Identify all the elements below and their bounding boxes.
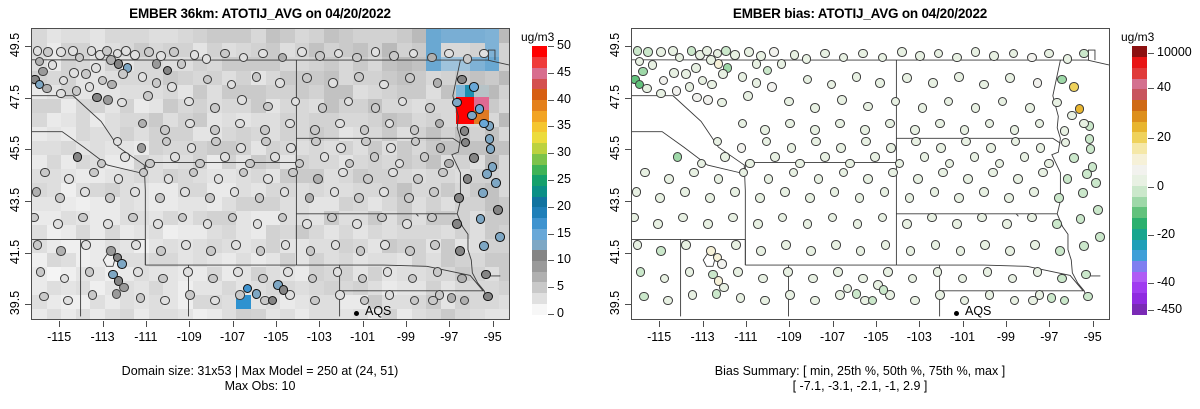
observation-site-marker [85,82,95,92]
observation-site-marker [1005,73,1015,83]
observation-site-marker [931,240,941,250]
observation-site-marker [117,98,127,108]
observation-site-marker [429,187,439,197]
observation-site-marker [170,152,180,162]
aqs-legend-label: AQS [965,304,991,318]
observation-site-marker [1013,174,1023,184]
observation-site-marker [430,240,440,250]
observation-site-marker [638,67,648,77]
observation-site-marker [1057,274,1067,284]
observation-site-marker [936,143,946,153]
observation-site-marker [888,168,898,178]
observation-site-marker [1027,53,1037,63]
observation-site-marker [379,187,389,197]
observation-site-marker [195,159,205,169]
x-axis-tick-label: -101 [340,330,386,344]
observation-site-marker [205,193,215,203]
bias-colorbar-units: ug/m3 [1121,30,1154,44]
observation-site-marker [831,240,841,250]
observation-site-marker [92,93,102,103]
observation-site-marker [1079,49,1089,59]
observation-site-marker [1081,270,1091,280]
observation-site-marker [963,174,973,184]
observation-site-marker [130,50,140,60]
observation-site-marker [986,143,996,153]
observation-site-marker [681,240,691,250]
observation-site-marker [737,143,747,153]
observation-site-marker [810,103,820,113]
observation-site-marker [180,187,190,197]
observation-site-marker [983,267,993,277]
x-axis-tick-label: -111 [723,330,769,344]
observation-site-marker [481,270,491,280]
colorbar-segment [532,175,547,186]
observation-site-marker [795,159,805,169]
colorbar-segment [532,89,547,100]
colorbar-segment [1132,260,1147,271]
x-axis-tick-label: -109 [766,330,812,344]
x-axis-tick [319,321,320,327]
colorbar-segment [532,282,547,293]
bias-caption-line-2: [ -7.1, -3.1, -2.1, -1, 2.9 ] [600,379,1120,394]
observation-site-marker [1052,98,1062,108]
observation-site-marker [389,51,399,61]
aqs-legend-dot [354,311,359,316]
observation-site-marker [130,187,140,197]
x-axis-tick [406,321,407,327]
observation-site-marker [263,174,273,184]
observation-site-marker [790,50,800,60]
observation-site-marker [279,285,289,295]
observation-site-marker [632,187,642,197]
observation-site-marker [860,125,870,135]
observation-site-marker [833,267,843,277]
colorbar-segment [532,196,547,207]
observation-site-marker [404,193,414,203]
colorbar-tick-label: 15 [557,226,571,240]
x-axis-tick-label: -97 [1026,330,1072,344]
observation-site-marker [190,50,200,60]
observation-site-marker [1052,219,1062,229]
observation-site-marker [152,59,162,69]
observation-site-marker [1082,169,1092,179]
observation-site-marker [181,240,191,250]
observation-site-marker [202,54,212,64]
observation-site-marker [703,219,713,229]
observation-site-marker [933,267,943,277]
observation-site-marker [245,159,255,169]
observation-site-marker [769,47,779,57]
x-axis-tick-label: -99 [383,330,429,344]
observation-site-marker [117,259,127,269]
x-axis-tick-label: -103 [296,330,342,344]
observation-site-marker [1004,193,1014,203]
observation-site-marker [852,289,862,299]
colorbar-segment [1132,57,1147,68]
colorbar-segment [532,78,547,89]
observation-site-marker [136,293,146,303]
observation-site-marker [39,292,49,302]
observation-site-marker [354,72,364,82]
observation-site-marker [1047,293,1057,303]
observation-site-marker [1025,103,1035,113]
observation-site-marker [72,86,82,96]
observation-site-marker [427,213,437,223]
observation-site-marker [780,187,790,197]
observation-site-marker [636,267,646,277]
observation-site-marker [664,174,674,184]
observation-site-marker [313,174,323,184]
colorbar-segment [1132,110,1147,121]
observation-site-marker [260,125,270,135]
colorbar-tick-label: -450 [1157,302,1182,316]
colorbar-tick [548,126,554,127]
observation-site-marker [427,53,437,63]
colorbar-segment [532,164,547,175]
observation-site-marker [758,274,768,284]
observation-site-marker [438,168,448,178]
y-axis-tick-label: 49.5 [608,22,622,68]
observation-site-marker [1054,193,1064,203]
colorbar-segment [532,142,547,153]
observation-site-marker [730,50,740,60]
observation-site-marker [783,267,793,277]
observation-site-marker [717,98,727,108]
x-axis-tick [876,321,877,327]
observation-site-marker [836,143,846,153]
observation-site-marker [252,289,262,299]
observation-site-marker [291,97,301,107]
y-axis-tick-label: 39.5 [8,280,22,326]
observation-site-marker [491,178,501,188]
observation-site-marker [1055,246,1065,256]
observation-site-marker [363,174,373,184]
observation-site-marker [330,187,340,197]
observation-site-marker [787,143,797,153]
observation-site-marker [858,49,868,59]
x-axis-tick [789,321,790,327]
observation-site-marker [78,213,88,223]
observation-site-marker [1033,267,1043,277]
observation-site-marker [433,78,443,88]
observation-site-marker [712,289,722,299]
observation-site-marker [360,125,370,135]
observation-site-marker [335,119,345,129]
observation-site-marker [673,152,683,162]
observation-site-marker [138,72,148,82]
observation-site-marker [80,187,90,197]
colorbar-segment [1132,218,1147,229]
observation-site-marker [915,51,925,61]
observation-site-marker [452,219,462,229]
observation-site-marker [1085,134,1095,144]
x-axis-tick [146,321,147,327]
observation-site-marker [685,82,695,92]
observation-site-marker [208,274,218,284]
observation-site-marker [656,246,666,256]
observation-site-marker [980,240,990,250]
observation-site-marker [479,241,489,251]
bias-caption-line-1: Bias Summary: [ min, 25th %, 50th %, 75t… [600,364,1120,379]
observation-site-marker [979,187,989,197]
observation-site-marker [902,73,912,83]
observation-site-marker [633,240,643,250]
observation-site-marker [81,69,91,79]
observation-site-marker [420,152,430,162]
observation-site-marker [352,219,362,229]
observation-site-marker [331,240,341,250]
colorbar-segment [532,239,547,250]
observation-site-marker [383,267,393,277]
colorbar-segment [1132,164,1147,175]
observation-site-marker [233,267,243,277]
observation-site-marker [43,47,53,57]
observation-site-marker [280,187,290,197]
colorbar-tick-label: 50 [557,38,571,52]
observation-site-marker [971,103,981,113]
observation-site-marker [164,174,174,184]
observation-site-marker [764,174,774,184]
colorbar-segment [1132,293,1147,304]
observation-site-marker [310,125,320,135]
observation-site-marker [952,53,962,63]
colorbar-tick [548,46,554,47]
observation-site-marker [388,168,398,178]
colorbar-tick-label: 25 [557,172,571,186]
observation-site-marker [288,168,298,178]
observation-site-marker [1027,213,1037,223]
x-axis-tick [659,321,660,327]
colorbar-segment [1132,282,1147,293]
observation-site-marker [203,219,213,229]
observation-site-marker [1010,125,1020,135]
observation-site-marker [185,290,195,300]
observation-site-marker [253,219,263,229]
observation-site-marker [875,78,885,88]
observation-site-marker [930,187,940,197]
observation-site-marker [938,168,948,178]
observation-site-marker [1069,153,1079,163]
observation-site-marker [881,240,891,250]
observation-site-marker [1030,240,1040,250]
observation-site-marker [920,152,930,162]
observation-site-marker [469,153,479,163]
observation-site-marker [811,137,821,147]
observation-site-marker [114,174,124,184]
y-axis-tick [25,201,31,202]
observation-site-marker [770,152,780,162]
observation-site-marker [183,267,193,277]
observation-site-marker [837,95,847,105]
observation-site-marker [672,86,682,96]
observation-site-marker [858,274,868,284]
observation-site-marker [691,63,701,73]
colorbar-tick-label: -20 [1157,227,1175,241]
colorbar-tick-label: 20 [1157,130,1171,144]
boundary-line [296,138,460,143]
y-axis-tick [625,304,631,305]
observation-site-marker [886,143,896,153]
boundary-line [488,50,494,60]
observation-site-marker [160,296,170,306]
x-axis-tick [493,321,494,327]
observation-site-marker [210,125,220,135]
observation-site-marker [678,213,688,223]
x-axis-tick-label: -105 [853,330,899,344]
x-axis-tick [363,321,364,327]
x-axis-tick-label: -113 [80,330,126,344]
colorbar-segment [1132,100,1147,111]
observation-site-marker [495,232,505,242]
observation-site-marker [879,285,889,295]
observation-site-marker [482,169,492,179]
colorbar-tick-label: -40 [1157,275,1175,289]
y-axis-tick-label: 43.5 [608,177,622,223]
observation-site-marker [830,187,840,197]
colorbar-segment [532,153,547,164]
observation-site-marker [486,144,496,154]
observation-site-marker [380,240,390,250]
observation-site-marker [810,125,820,135]
y-axis-tick-label: 41.5 [8,229,22,275]
observation-site-marker [689,168,699,178]
colorbar-tick [1148,53,1154,54]
observation-site-marker [1069,82,1079,92]
colorbar-tick [548,314,554,315]
observation-site-marker [806,246,816,256]
observation-site-marker [810,296,820,306]
observation-site-marker [902,219,912,229]
x-axis-tick-label: -107 [810,330,856,344]
x-axis-tick-label: -95 [1070,330,1116,344]
observation-site-marker [805,193,815,203]
colorbar-tick [1148,235,1154,236]
observation-site-marker [802,54,812,64]
observation-site-marker [1033,78,1043,88]
observation-site-marker [281,240,291,250]
observation-site-marker [311,137,321,147]
observation-site-marker [753,219,763,229]
y-axis-tick [625,98,631,99]
colorbar-segment [532,250,547,261]
panel-bias: EMBER bias: ATOTIJ_AVG on 04/20/2022 AQS… [600,0,1200,409]
colorbar-segment [1132,121,1147,132]
colorbar-tick-label: 0 [1157,179,1164,193]
observation-site-marker [133,267,143,277]
observation-site-marker [703,95,713,105]
x-axis-tick-label: -111 [123,330,169,344]
observation-site-marker [744,47,754,57]
x-axis-tick-label: -115 [36,330,82,344]
observation-site-marker [1002,219,1012,229]
observation-site-marker [235,119,245,129]
boundary-line [896,138,1060,143]
colorbar-segment [1132,228,1147,239]
observation-site-marker [56,47,66,57]
observation-site-marker [220,49,230,59]
observation-site-marker [286,143,296,153]
boundary-line [1088,50,1094,60]
colorbar-tick [1148,310,1154,311]
colorbar-segment [1132,303,1147,314]
observation-site-marker [1083,292,1093,302]
model-caption-line-2: Max Obs: 10 [0,379,520,394]
colorbar-tick-label: 0 [557,306,564,320]
observation-site-marker [463,54,473,64]
observation-site-marker [853,219,863,229]
observation-site-marker [885,119,895,129]
observation-site-marker [880,187,890,197]
observation-site-marker [1036,143,1046,153]
colorbar-tick [1148,187,1154,188]
observation-site-marker [153,219,163,229]
colorbar-segment [1132,46,1147,57]
observation-site-marker [338,168,348,178]
observation-site-marker [105,193,115,203]
x-axis-tick-label: -99 [983,330,1029,344]
observation-site-marker [814,174,824,184]
colorbar-segment [532,207,547,218]
observation-site-marker [745,159,755,169]
observation-site-marker [237,95,247,105]
model-map-plot-area[interactable]: AQS [31,28,510,320]
observation-site-marker [53,219,63,229]
bias-map-plot-area[interactable]: AQS [631,28,1110,320]
observation-site-marker [1063,54,1073,64]
observation-site-marker [663,296,673,306]
observation-site-marker [63,296,73,306]
observation-site-marker [483,292,493,302]
observation-site-marker [436,143,446,153]
observation-site-marker [258,49,268,59]
x-axis-tick-label: -97 [426,330,472,344]
observation-site-marker [433,267,443,277]
observation-site-marker [206,246,216,256]
colorbar-tick [1148,283,1154,284]
colorbar-tick-label: 40 [1157,80,1171,94]
x-axis-tick [833,321,834,327]
observation-site-marker [315,51,325,61]
colorbar-gradient [532,46,547,314]
observation-site-marker [187,143,197,153]
observation-site-marker [413,174,423,184]
colorbar-tick [1148,138,1154,139]
y-axis-tick-label: 43.5 [8,177,22,223]
observation-site-marker [184,97,194,107]
observation-site-marker [85,267,95,277]
colorbar-tick [548,260,554,261]
observation-site-marker [447,293,457,303]
colorbar-gradient [1132,46,1147,314]
colorbar-segment [1132,175,1147,186]
observation-site-marker [128,213,138,223]
observation-site-marker [167,82,177,92]
y-axis-tick [625,46,631,47]
x-axis-tick-label: -103 [896,330,942,344]
observation-site-marker [305,193,315,203]
observation-site-marker [956,246,966,256]
panel-model: EMBER 36km: ATOTIJ_AVG on 04/20/2022 AQS… [0,0,600,409]
x-axis-tick [746,321,747,327]
observation-site-marker [42,84,52,94]
observation-site-marker [32,187,42,197]
figure-canvas: EMBER 36km: ATOTIJ_AVG on 04/20/2022 AQS… [0,0,1200,409]
colorbar-tick-label: 40 [557,92,571,106]
observation-site-marker [743,91,753,101]
colorbar-segment [1132,185,1147,196]
observation-site-marker [970,152,980,162]
observation-site-marker [692,93,702,103]
